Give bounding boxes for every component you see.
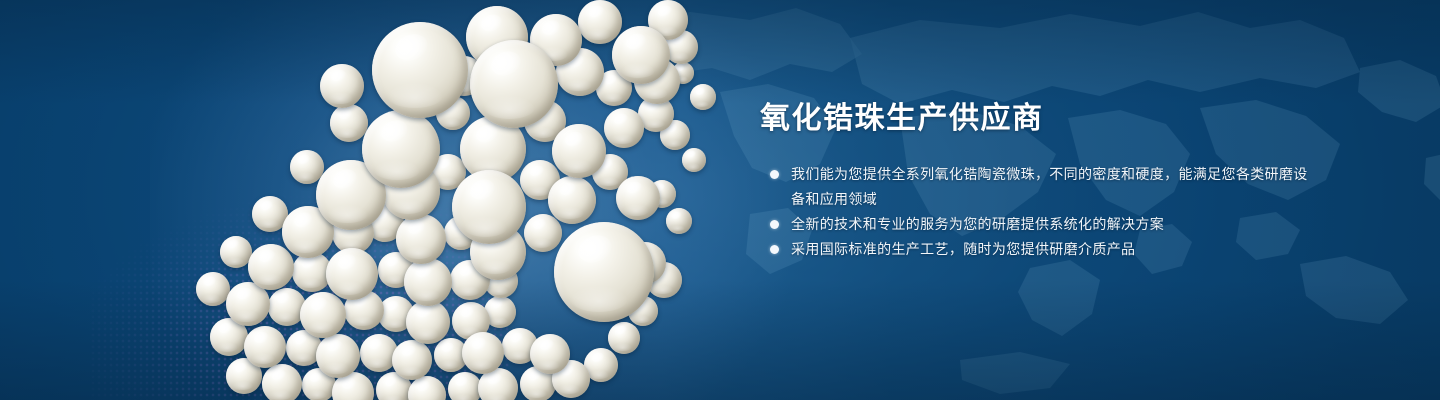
zirconia-bead bbox=[320, 64, 364, 108]
zirconia-bead bbox=[608, 322, 640, 354]
zirconia-bead bbox=[616, 176, 660, 220]
zirconia-bead bbox=[524, 214, 562, 252]
zirconia-bead bbox=[326, 248, 378, 300]
zirconia-bead bbox=[196, 272, 230, 306]
zirconia-bead bbox=[316, 334, 360, 378]
zirconia-bead bbox=[470, 40, 558, 128]
feature-list-item-label: 全新的技术和专业的服务为您的研磨提供系统化的解决方案 bbox=[791, 216, 1164, 232]
zirconia-bead bbox=[372, 22, 468, 118]
zirconia-bead bbox=[362, 110, 440, 188]
banner-copy: 氧化锆珠生产供应商 我们能为您提供全系列氧化锆陶瓷微珠，不同的密度和硬度，能满足… bbox=[760, 100, 1320, 262]
zirconia-bead bbox=[548, 176, 596, 224]
feature-list-item: 采用国际标准的生产工艺，随时为您提供研磨介质产品 bbox=[760, 237, 1320, 262]
zirconia-bead bbox=[462, 332, 504, 374]
zirconia-bead bbox=[330, 104, 368, 142]
zirconia-bead bbox=[578, 0, 622, 44]
zirconia-bead bbox=[552, 124, 606, 178]
feature-list-item-label: 采用国际标准的生产工艺，随时为您提供研磨介质产品 bbox=[791, 241, 1135, 257]
zirconia-bead bbox=[604, 108, 644, 148]
feature-list-item: 全新的技术和专业的服务为您的研磨提供系统化的解决方案 bbox=[760, 212, 1320, 237]
zirconia-bead bbox=[244, 326, 286, 368]
dot-icon bbox=[770, 245, 779, 254]
dot-icon bbox=[770, 220, 779, 229]
hero-banner: 氧化锆珠生产供应商 我们能为您提供全系列氧化锆陶瓷微珠，不同的密度和硬度，能满足… bbox=[0, 0, 1440, 400]
zirconia-bead bbox=[392, 340, 432, 380]
feature-list: 我们能为您提供全系列氧化锆陶瓷微珠，不同的密度和硬度，能满足您各类研磨设备和应用… bbox=[760, 162, 1320, 262]
zirconia-bead bbox=[262, 364, 302, 400]
dot-icon bbox=[770, 170, 779, 179]
zirconia-bead bbox=[682, 148, 706, 172]
zirconia-bead bbox=[396, 214, 446, 264]
zirconia-bead bbox=[612, 26, 670, 84]
zirconia-bead bbox=[666, 208, 692, 234]
zirconia-bead bbox=[404, 258, 452, 306]
zirconia-bead bbox=[690, 84, 716, 110]
zirconia-bead bbox=[248, 244, 294, 290]
feature-list-item-label: 我们能为您提供全系列氧化锆陶瓷微珠，不同的密度和硬度，能满足您各类研磨设备和应用… bbox=[791, 166, 1308, 207]
page-title: 氧化锆珠生产供应商 bbox=[760, 100, 1320, 138]
zirconia-bead bbox=[452, 170, 526, 244]
feature-list-item: 我们能为您提供全系列氧化锆陶瓷微珠，不同的密度和硬度，能满足您各类研磨设备和应用… bbox=[760, 162, 1320, 212]
zirconia-bead bbox=[530, 334, 570, 374]
zirconia-bead bbox=[406, 300, 450, 344]
zirconia-bead bbox=[300, 292, 346, 338]
zirconia-bead bbox=[554, 222, 654, 322]
zirconia-bead bbox=[448, 372, 482, 400]
